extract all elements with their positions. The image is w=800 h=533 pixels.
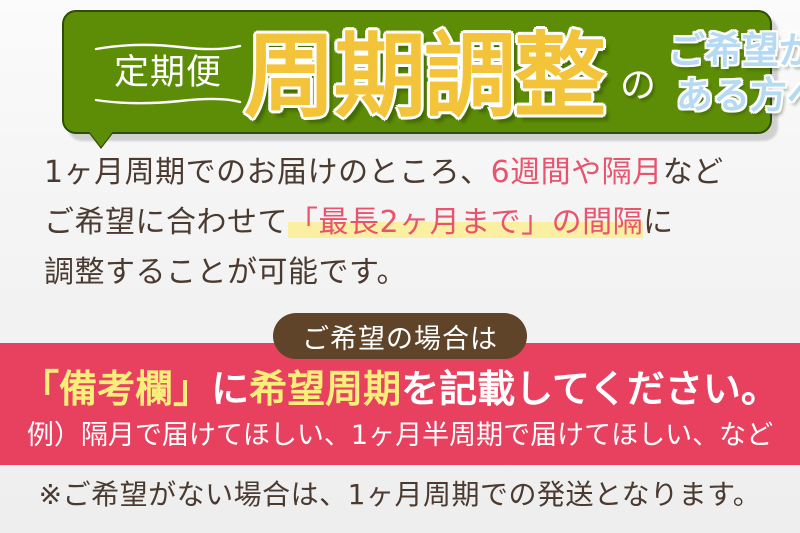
instruction-main-text: 「備考欄」に希望周期を記載してください。 — [0, 365, 800, 413]
body-line-1-emphasis: 6週間や隔月 — [491, 155, 663, 190]
body-line-2: ご希望に合わせて「最長2ヶ月まで」の間隔に — [44, 198, 768, 248]
instruction-pink-banner: 「備考欄」に希望周期を記載してください。 例）隔月で届けてほしい、1ヶ月半周期で… — [0, 343, 800, 465]
wave-line-bottom-icon — [94, 96, 242, 105]
header-title: 周期調整 — [244, 25, 604, 129]
body-line-1: 1ヶ月周期でのお届けのところ、6週間や隔月など — [44, 148, 768, 198]
body-line-2-text-a: ご希望に合わせて — [44, 205, 288, 240]
instruction-text-b: に — [211, 367, 249, 411]
wish-line-2: ある方へ — [668, 73, 800, 118]
footer-note: ※ご希望がない場合は、1ヶ月周期での発送となります。 — [0, 476, 800, 514]
subscription-label: 定期便 — [114, 52, 222, 96]
wish-callout: ご希望が ある方へ — [668, 28, 800, 118]
instruction-field-name: 「備考欄」 — [21, 367, 211, 411]
body-line-2-text-b: に — [643, 205, 674, 240]
instruction-text-d: を記載してください。 — [401, 367, 779, 411]
condition-pill-badge: ご希望の場合は — [273, 313, 527, 359]
header-green-box: 定期便 周期調整 の ご希望が ある方へ — [62, 10, 772, 134]
wave-line-top-icon — [94, 43, 242, 52]
subscription-label-group: 定期便 — [92, 30, 244, 118]
header-particle: の — [620, 68, 656, 104]
wish-line-1: ご希望が — [668, 28, 800, 73]
header-speech-tail-icon — [88, 130, 114, 147]
body-line-1-text-a: 1ヶ月周期でのお届けのところ、 — [44, 155, 491, 190]
header-banner: 定期便 周期調整 の ご希望が ある方へ — [62, 10, 772, 134]
body-line-3: 調整することが可能です。 — [44, 248, 768, 298]
body-line-1-text-b: など — [663, 155, 724, 190]
instruction-cycle-term: 希望周期 — [249, 367, 401, 411]
instruction-example-text: 例）隔月で届けてほしい、1ヶ月半周期で届けてほしい、など — [0, 419, 800, 453]
body-paragraph: 1ヶ月周期でのお届けのところ、6週間や隔月など ご希望に合わせて「最長2ヶ月まで… — [44, 148, 768, 298]
body-line-2-highlight: 「最長2ヶ月まで」の間隔 — [288, 205, 643, 240]
promo-banner-root: 定期便 周期調整 の ご希望が ある方へ 1ヶ月周期でのお届けのところ、6週間や… — [0, 0, 800, 533]
